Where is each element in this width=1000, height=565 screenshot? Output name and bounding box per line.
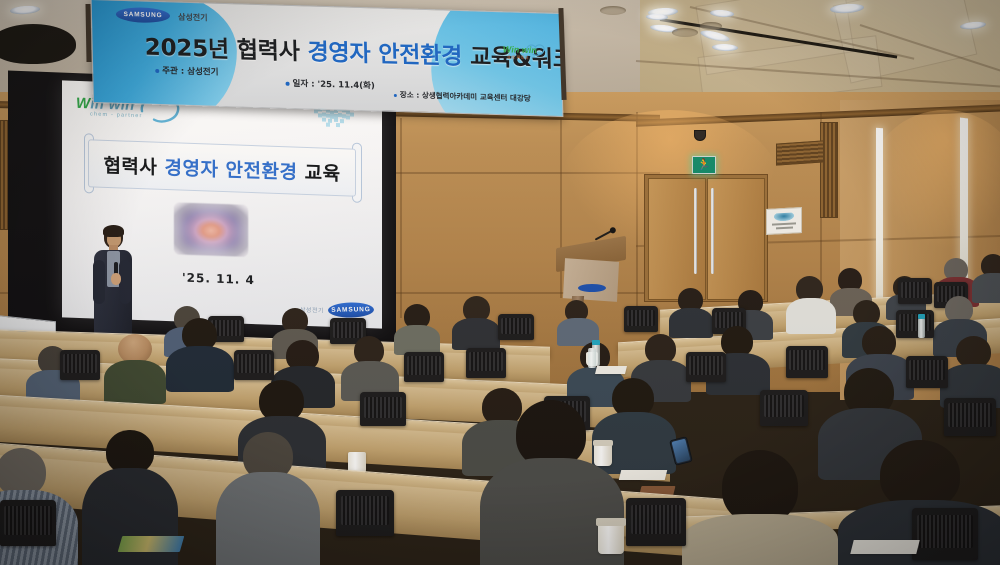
attendee	[560, 300, 594, 344]
banner-samsung-wordmark: SAMSUNG	[123, 11, 162, 19]
attendee	[700, 450, 820, 565]
seat[interactable]	[404, 352, 444, 382]
banner-brand-korean: 삼성전기	[178, 12, 208, 24]
document-paper[interactable]	[595, 366, 627, 374]
seat[interactable]	[0, 500, 56, 546]
banner-support-pole	[85, 4, 91, 62]
presenter-hair	[103, 225, 124, 237]
emergency-exit-sign: 🏃	[692, 156, 716, 174]
seat[interactable]	[760, 390, 808, 426]
handshake-photo	[174, 202, 248, 257]
wall-notice-sign	[766, 207, 802, 235]
seat[interactable]	[336, 490, 394, 536]
door-leaf-left[interactable]	[648, 178, 706, 300]
security-camera-icon	[694, 130, 706, 141]
seat[interactable]	[466, 348, 506, 378]
seat[interactable]	[686, 352, 726, 382]
banner-meta-host: 주관 : 삼성전기	[155, 64, 219, 78]
bullet-icon	[394, 93, 397, 96]
attendee-body	[166, 346, 234, 392]
attendee	[108, 334, 160, 402]
attendee-body	[394, 325, 440, 355]
attendee	[672, 288, 708, 336]
seat[interactable]	[898, 278, 932, 304]
attendee	[456, 296, 496, 348]
bottle-cap	[918, 314, 925, 319]
banner-meta-date-text: 일자 : '25. 11.4(화)	[292, 79, 374, 91]
door-handle-left[interactable]	[694, 188, 697, 274]
event-banner: SAMSUNG 삼성전기 2025년 협력사 경영자 안전환경 교육&워크숍 주…	[91, 0, 564, 117]
slide-title: 협력사 경영자 안전환경 교육	[103, 150, 340, 185]
attendee	[946, 336, 1000, 402]
bullet-icon	[155, 68, 159, 72]
slide-title-box: 협력사 경영자 안전환경 교육	[88, 139, 356, 196]
podium-samsung-logo	[578, 284, 606, 292]
ceiling-speaker	[0, 24, 76, 64]
wall-sign-textline	[776, 227, 793, 230]
presenter-hands	[111, 273, 121, 285]
heart-icon	[525, 39, 553, 60]
winwin-tagline: chem - partner	[90, 111, 143, 119]
wall-seam	[400, 118, 402, 318]
slide-title-seg2: 경영자 안전환경	[165, 156, 298, 183]
attendee-body	[682, 514, 838, 565]
document-paper[interactable]	[619, 470, 667, 480]
attendee-body	[216, 472, 320, 565]
printed-booklet[interactable]	[118, 536, 185, 552]
wall-grille	[820, 122, 838, 218]
attendee	[346, 336, 392, 396]
air-vent-grille	[776, 140, 824, 165]
banner-title-seg2: 경영자 안전환경	[307, 39, 462, 70]
slide-title-seg1: 협력사	[103, 154, 164, 178]
door-leaf-right[interactable]	[707, 178, 765, 300]
banner-meta-date: 일자 : '25. 11.4(화)	[285, 77, 374, 92]
paper-cup[interactable]	[598, 522, 624, 554]
door-handle-right[interactable]	[711, 188, 714, 274]
bullet-icon	[286, 81, 290, 85]
attendee	[976, 254, 1000, 300]
ceiling-vent	[672, 28, 698, 37]
attendee	[790, 276, 830, 332]
attendee	[496, 400, 606, 565]
seat[interactable]	[624, 306, 658, 332]
seat[interactable]	[360, 392, 406, 426]
document-paper[interactable]	[850, 540, 919, 554]
ceiling-vent	[600, 6, 626, 15]
seat[interactable]	[906, 356, 948, 388]
presenter	[92, 226, 136, 342]
banner-meta-venue-text: 장소 : 상생협력아카데미 교육센터 대강당	[400, 90, 531, 103]
banner-winwin-logo: Win win 상생 파트너	[503, 40, 554, 67]
wall-seam	[636, 112, 638, 312]
lecture-hall-photo: 🏃 Win win chem - partner	[0, 0, 1000, 565]
presenter-arm-left	[93, 260, 105, 304]
slide-samsung-logo: SAMSUNG	[328, 302, 375, 318]
banner-title-seg1: 2025년 협력사	[144, 35, 307, 66]
seat[interactable]	[60, 350, 100, 380]
seat[interactable]	[234, 350, 274, 380]
wall-sign-textline	[772, 223, 796, 226]
attendee	[398, 304, 436, 352]
attendee-body	[786, 298, 836, 334]
water-bottle[interactable]	[918, 318, 925, 338]
slide-date: '25. 11. 4	[182, 271, 255, 288]
exit-sign-glyph: 🏃	[697, 160, 711, 171]
seat[interactable]	[944, 398, 996, 436]
attendee-head	[0, 448, 46, 496]
attendee-body	[104, 360, 166, 404]
samsung-wordmark: SAMSUNG	[331, 306, 371, 314]
banner-meta-host-text: 주관 : 삼성전기	[162, 66, 219, 78]
seat[interactable]	[626, 498, 686, 546]
attendee	[172, 318, 226, 388]
seat[interactable]	[912, 508, 978, 560]
bottle-cap	[592, 340, 600, 345]
presenter-arm-right	[119, 260, 131, 304]
cup-lid	[596, 518, 626, 526]
attendee-body	[452, 318, 500, 350]
slide-title-seg3: 교육	[297, 161, 340, 185]
attendee-head	[722, 450, 798, 524]
seat[interactable]	[786, 346, 828, 378]
seat[interactable]	[498, 314, 534, 340]
wall-sign-graphic	[774, 212, 794, 222]
attendee	[228, 432, 306, 565]
water-bottle[interactable]	[588, 348, 596, 368]
ceiling-vent	[700, 22, 722, 30]
wall-light-strip	[876, 128, 883, 319]
